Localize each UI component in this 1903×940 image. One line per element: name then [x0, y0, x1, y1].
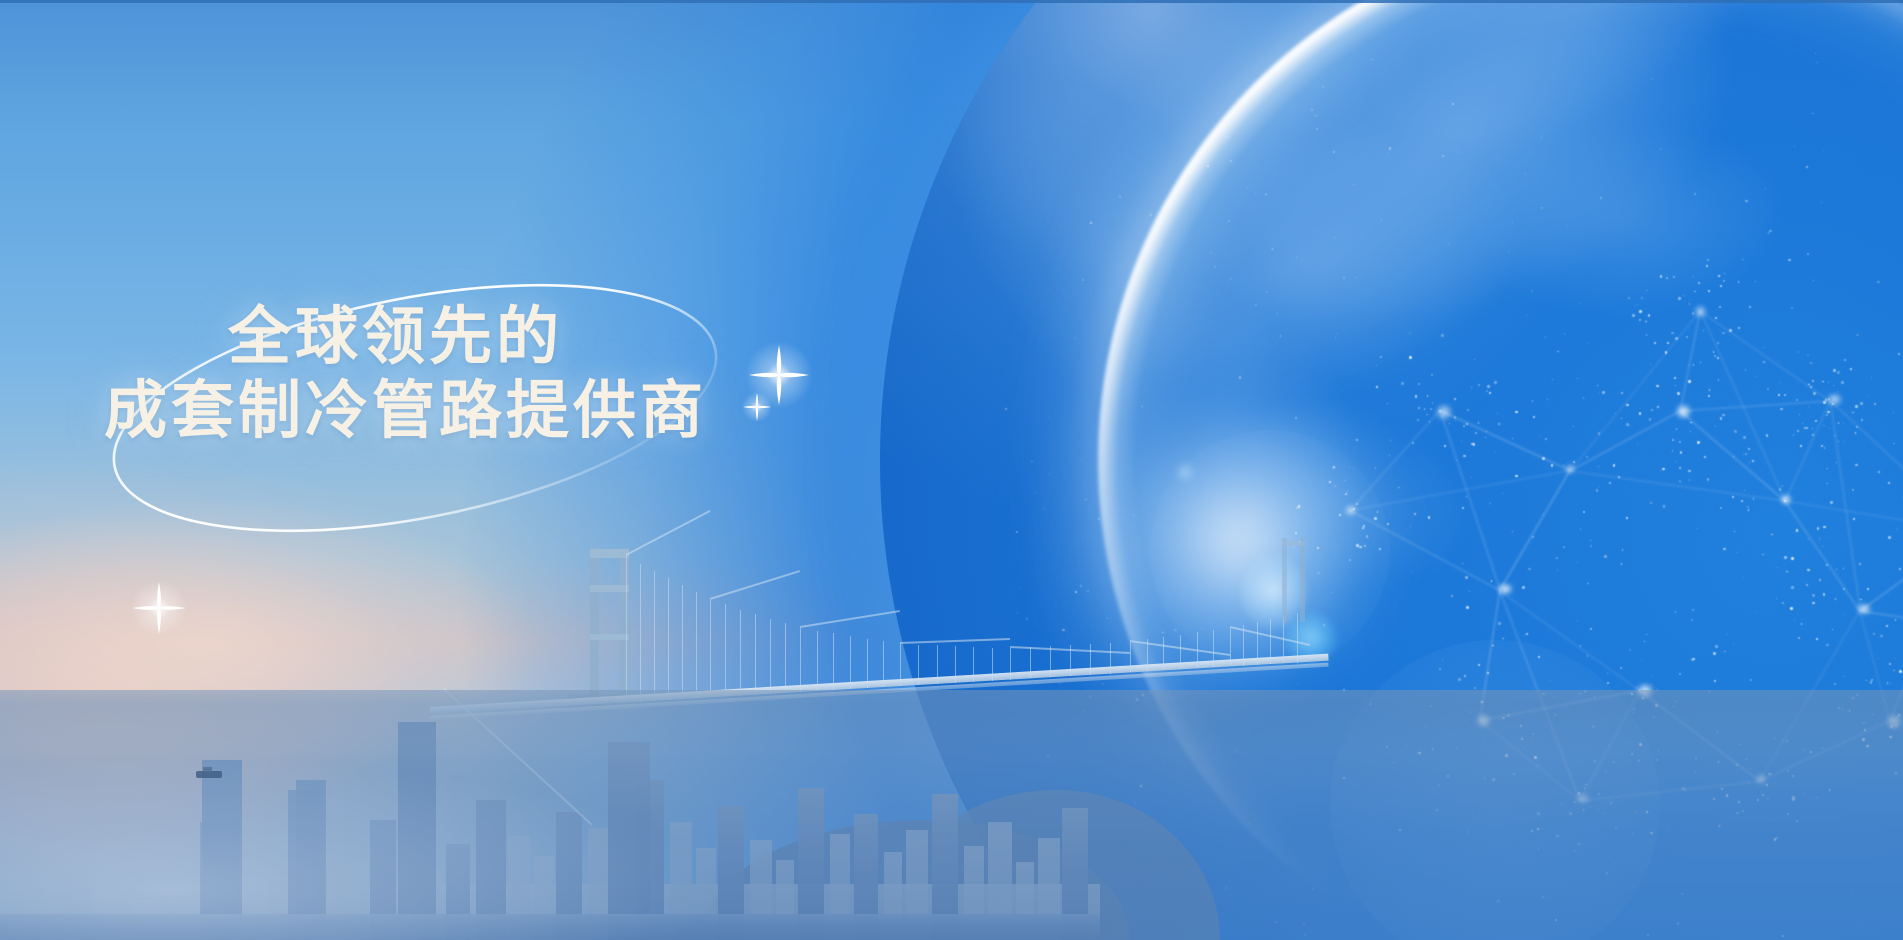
water-sheen	[0, 700, 980, 940]
hero-banner: 全球领先的 成套制冷管路提供商	[0, 0, 1903, 940]
headline-line-1: 全球领先的	[228, 300, 864, 374]
small-boat-cabin	[203, 767, 212, 772]
headline-block: 全球领先的 成套制冷管路提供商	[104, 300, 864, 448]
lens-flare-orb-3	[1175, 462, 1195, 482]
headline-line-2: 成套制冷管路提供商	[104, 374, 864, 448]
top-edge-strip	[0, 0, 1903, 3]
small-boat	[196, 771, 222, 778]
